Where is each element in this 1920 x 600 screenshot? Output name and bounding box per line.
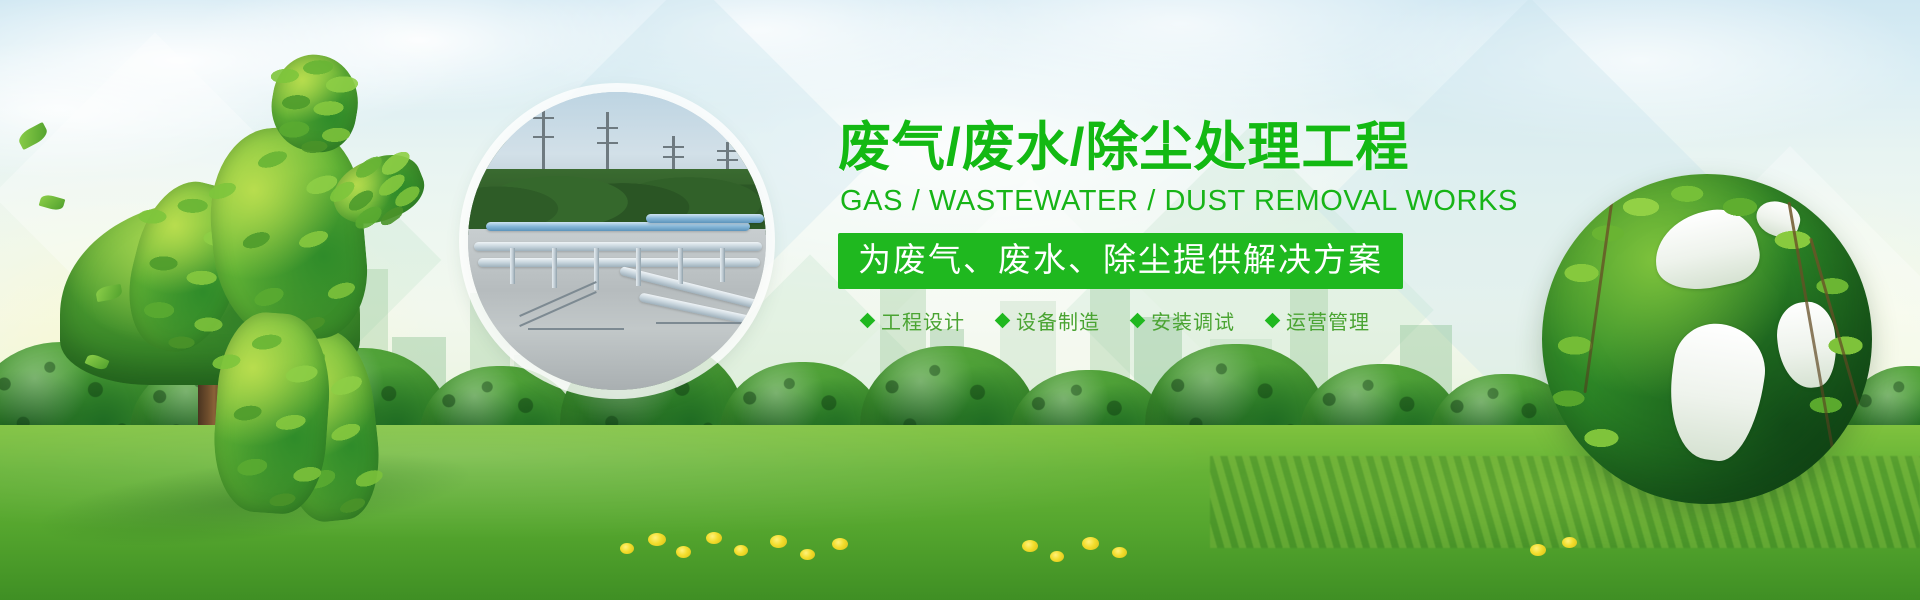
continent-africa <box>1774 299 1841 391</box>
diamond-icon <box>1130 313 1146 329</box>
yellow-flower <box>706 532 722 544</box>
yellow-flower <box>832 538 848 550</box>
diamond-icon <box>860 313 876 329</box>
floating-leaf <box>39 193 66 212</box>
photo-sky <box>468 92 766 181</box>
feature-item: 运营管理 <box>1267 306 1370 335</box>
continent-greenland <box>1752 196 1804 242</box>
leaf-head <box>264 48 365 157</box>
power-pylon <box>542 100 545 178</box>
diamond-shape <box>159 119 442 402</box>
tagline-green-bar: 为废气、废水、除尘提供解决方案 <box>838 233 1403 289</box>
floating-leaf <box>85 352 110 372</box>
feature-item: 安装调试 <box>1132 306 1235 335</box>
yellow-flower <box>1112 547 1127 558</box>
tagline-text: 为废气、废水、除尘提供解决方案 <box>858 241 1383 278</box>
power-pylon <box>606 112 609 178</box>
foreground-tree <box>60 200 360 450</box>
yellow-flower <box>770 535 787 548</box>
feature-label: 运营管理 <box>1286 306 1370 335</box>
vine <box>1809 238 1870 441</box>
yellow-flower <box>1530 544 1546 556</box>
leaf-arm-front <box>324 144 433 236</box>
white-pipe <box>474 242 762 251</box>
feature-list: 工程设计 设备制造 安装调试 运营管理 <box>862 306 1478 335</box>
pipe-post <box>552 248 557 288</box>
photo-content <box>468 92 766 390</box>
pipe-post <box>678 248 683 284</box>
floating-leaf <box>95 284 123 302</box>
yellow-flower <box>1562 537 1577 548</box>
leaf-torso <box>203 121 373 347</box>
handrail <box>656 322 746 324</box>
yellow-flower <box>800 549 815 560</box>
page-title: 废气/废水/除尘处理工程 <box>838 120 1478 176</box>
pipe-post <box>720 248 725 282</box>
eco-engineering-banner: 废气/废水/除尘处理工程 GAS / WASTEWATER / DUST REM… <box>0 0 1920 600</box>
feature-label: 工程设计 <box>881 306 965 335</box>
yellow-flower <box>734 545 748 556</box>
diamond-icon <box>995 313 1011 329</box>
page-subtitle-english: GAS / WASTEWATER / DUST REMOVAL WORKS <box>840 185 1478 218</box>
feature-item: 工程设计 <box>862 306 965 335</box>
blue-pipe <box>486 222 750 231</box>
yellow-flower <box>620 543 634 554</box>
floating-leaf <box>16 122 50 150</box>
vine <box>1583 185 1615 393</box>
circular-photo-wastewater-plant <box>468 92 766 390</box>
feature-label: 设备制造 <box>1016 306 1100 335</box>
tree-shadow <box>37 436 473 564</box>
pipe-post <box>636 248 641 286</box>
continent-north-america <box>1647 202 1765 298</box>
feature-item: 设备制造 <box>997 306 1100 335</box>
feature-label: 安装调试 <box>1151 306 1235 335</box>
vine <box>1787 202 1835 459</box>
banner-text-block: 废气/废水/除尘处理工程 GAS / WASTEWATER / DUST REM… <box>838 120 1478 335</box>
pipe-post <box>510 248 515 284</box>
grass-lawn <box>0 425 1920 600</box>
yellow-flower <box>676 546 691 558</box>
yellow-flower <box>648 533 666 546</box>
leaf-arm-back <box>115 171 258 363</box>
yellow-flower <box>1082 537 1099 550</box>
yellow-flower <box>1050 551 1064 562</box>
white-pipe <box>478 258 760 267</box>
yellow-flower <box>1022 540 1038 552</box>
diamond-icon <box>1265 313 1281 329</box>
leaf-litter-ground <box>1210 456 1920 548</box>
handrail <box>528 328 624 330</box>
blue-pipe <box>646 214 764 223</box>
